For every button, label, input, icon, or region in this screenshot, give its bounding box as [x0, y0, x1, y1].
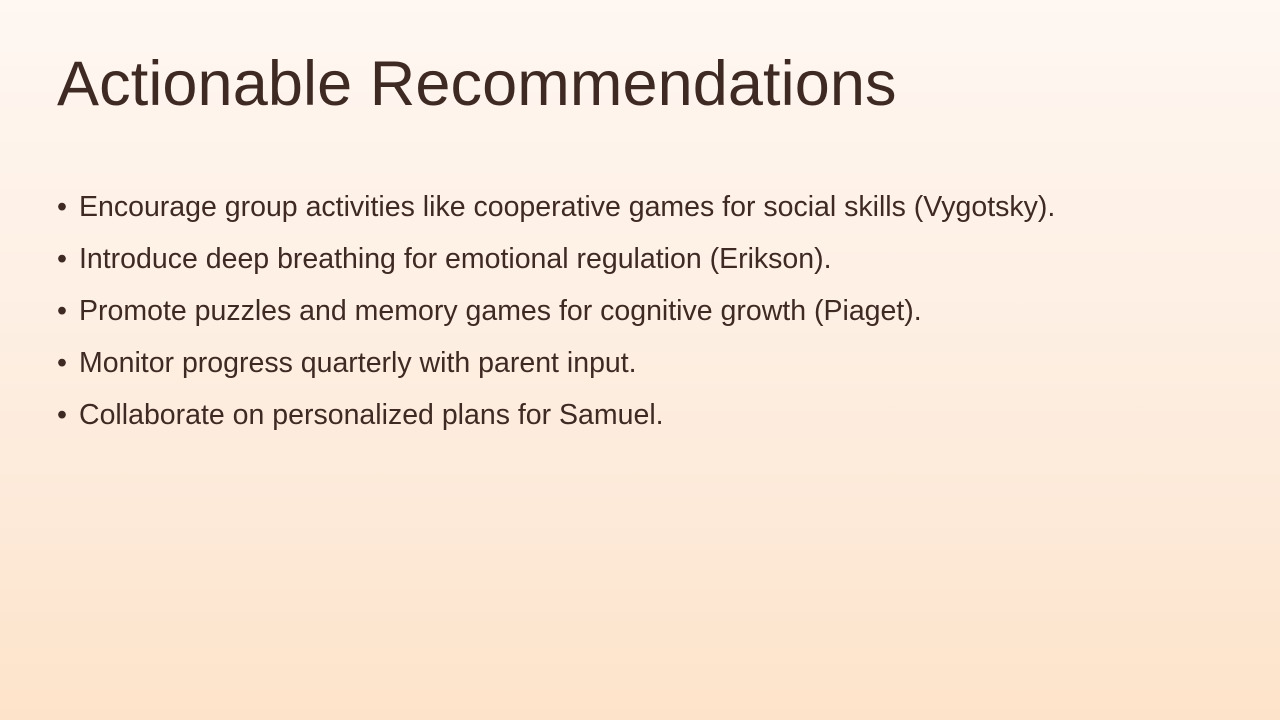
list-item: • Introduce deep breathing for emotional… — [57, 238, 1237, 290]
bullet-dot-icon: • — [57, 290, 79, 332]
bullet-dot-icon: • — [57, 238, 79, 280]
list-item-label: Encourage group activities like cooperat… — [79, 186, 1055, 228]
page-title: Actionable Recommendations — [57, 50, 1227, 118]
list-item: • Promote puzzles and memory games for c… — [57, 290, 1237, 342]
list-item-label: Promote puzzles and memory games for cog… — [79, 290, 922, 332]
list-item: • Monitor progress quarterly with parent… — [57, 342, 1237, 394]
list-item-label: Introduce deep breathing for emotional r… — [79, 238, 832, 280]
bullet-dot-icon: • — [57, 342, 79, 384]
bullet-list: • Encourage group activities like cooper… — [57, 186, 1237, 446]
list-item: • Encourage group activities like cooper… — [57, 186, 1237, 238]
presentation-slide: Actionable Recommendations • Encourage g… — [0, 0, 1280, 720]
bullet-dot-icon: • — [57, 394, 79, 436]
list-item: • Collaborate on personalized plans for … — [57, 394, 1237, 446]
bullet-dot-icon: • — [57, 186, 79, 228]
list-item-label: Monitor progress quarterly with parent i… — [79, 342, 637, 384]
list-item-label: Collaborate on personalized plans for Sa… — [79, 394, 664, 436]
